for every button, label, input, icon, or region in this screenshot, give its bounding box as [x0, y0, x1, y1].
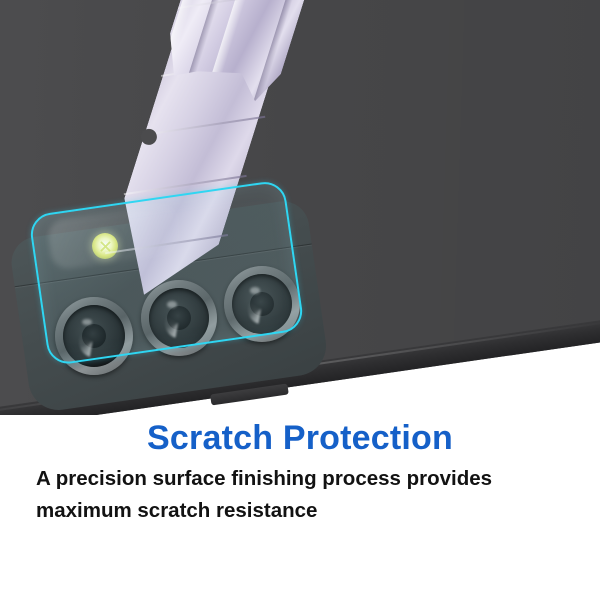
body-line-2: maximum scratch resistance	[36, 499, 317, 522]
headline: Scratch Protection	[0, 419, 600, 458]
scratch-test-photo	[0, 0, 600, 415]
product-feature-image: Scratch Protection A precision surface f…	[0, 0, 600, 600]
body-text: A precision surface finishing process pr…	[36, 463, 581, 527]
caption-block: Scratch Protection A precision surface f…	[0, 415, 600, 600]
protector-gloss	[46, 203, 184, 272]
body-line-1: A precision surface finishing process pr…	[36, 467, 492, 490]
